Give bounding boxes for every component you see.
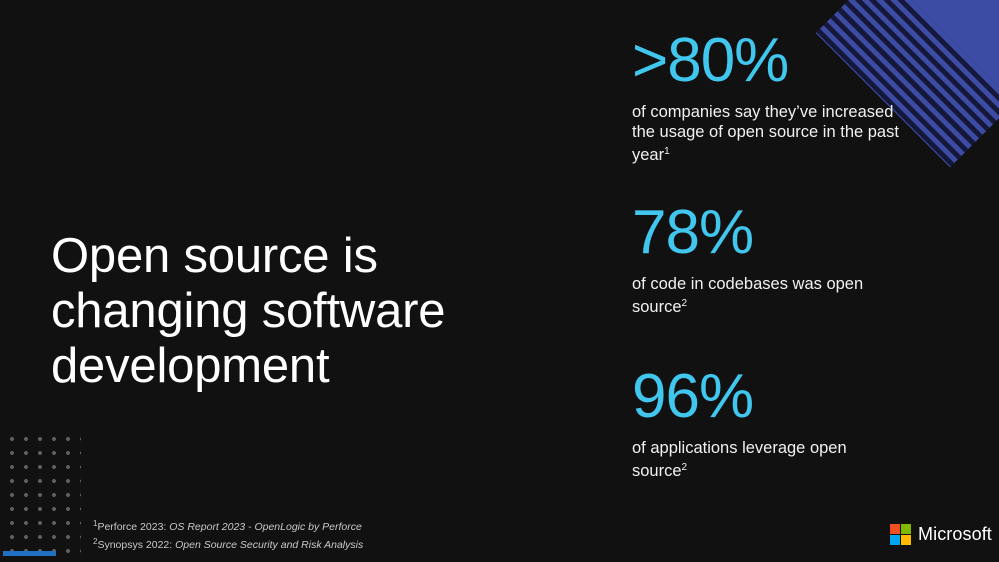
presentation-slide: Open source is changing software develop… xyxy=(0,0,999,562)
footnote-source: Perforce 2023: xyxy=(97,521,169,533)
microsoft-logo: Microsoft xyxy=(890,524,992,545)
statistic-description: of applications leverage open source2 xyxy=(632,439,902,482)
statistic-value: >80% xyxy=(632,28,902,94)
statistic-description: of code in codebases was open source2 xyxy=(632,275,902,318)
statistic-footnote-marker: 1 xyxy=(664,146,670,157)
statistic-description: of companies say they’ve increased the u… xyxy=(632,103,902,166)
statistic-description-text: of code in codebases was open source xyxy=(632,275,863,317)
statistic-description-text: of companies say they’ve increased the u… xyxy=(632,103,899,164)
page-title: Open source is changing software develop… xyxy=(51,229,481,394)
statistics-list: >80% of companies say they’ve increased … xyxy=(632,28,902,504)
footnote-title: OS Report 2023 - OpenLogic by Perforce xyxy=(169,521,362,533)
statistic-item: >80% of companies say they’ve increased … xyxy=(632,28,902,166)
statistic-footnote-marker: 2 xyxy=(682,462,688,473)
footnote-source: Synopsys 2022: xyxy=(97,539,175,551)
microsoft-square-green xyxy=(901,524,911,534)
statistic-item: 78% of code in codebases was open source… xyxy=(632,200,902,318)
footnote-title: Open Source Security and Risk Analysis xyxy=(175,539,363,551)
footnote-item: 2Synopsys 2022: Open Source Security and… xyxy=(93,535,363,553)
microsoft-squares-icon xyxy=(890,524,911,545)
footnote-item: 1Perforce 2023: OS Report 2023 - OpenLog… xyxy=(93,517,363,535)
blue-accent-bar xyxy=(3,551,56,556)
statistic-value: 96% xyxy=(632,364,902,430)
microsoft-square-blue xyxy=(890,535,900,545)
dot-grid-decoration-icon xyxy=(5,432,81,554)
statistic-description-text: of applications leverage open source xyxy=(632,439,847,481)
microsoft-square-yellow xyxy=(901,535,911,545)
footnotes: 1Perforce 2023: OS Report 2023 - OpenLog… xyxy=(93,517,363,552)
statistic-footnote-marker: 2 xyxy=(682,298,688,309)
microsoft-wordmark: Microsoft xyxy=(918,524,992,545)
statistic-value: 78% xyxy=(632,200,902,266)
microsoft-square-red xyxy=(890,524,900,534)
statistic-item: 96% of applications leverage open source… xyxy=(632,364,902,482)
